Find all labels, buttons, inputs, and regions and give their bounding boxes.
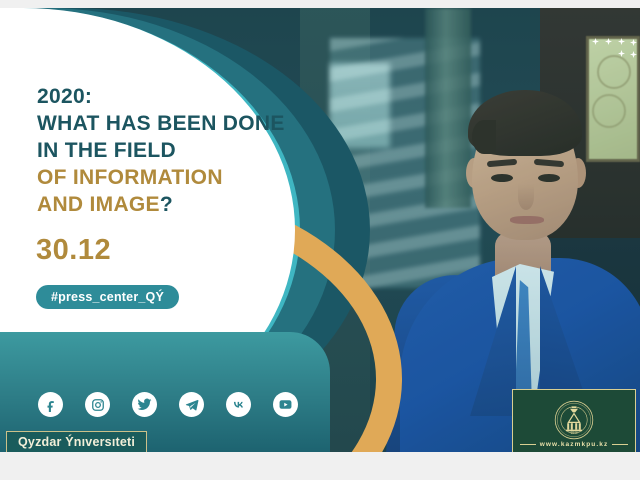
social-link-twitter[interactable] [132, 392, 157, 417]
headline-line-5-text: AND IMAGE [37, 193, 160, 216]
headline-line-1: 2020: [37, 84, 337, 111]
headline-line-4: OF INFORMATION [37, 165, 337, 192]
headline-line-3: IN THE FIELD [37, 138, 337, 165]
headline-question-mark: ? [160, 193, 173, 216]
social-link-vk[interactable] [226, 392, 251, 417]
twitter-icon [137, 397, 152, 412]
social-link-telegram[interactable] [179, 392, 204, 417]
sparkle-decoration [592, 38, 638, 64]
telegram-icon [185, 398, 199, 412]
university-name-label: Qyzdar Ýnıversıteti [18, 435, 135, 449]
hashtag-badge[interactable]: #press_center_QÝ [36, 285, 179, 309]
university-emblem: 1944 www.kazmkpu.kz [512, 389, 636, 452]
sparkle-icon [618, 38, 625, 45]
vk-icon [231, 397, 246, 412]
emblem-rule-right [612, 444, 628, 445]
university-name-plate: Qyzdar Ýnıversıteti [6, 431, 147, 452]
youtube-icon [278, 397, 293, 412]
headline-line-2: WHAT HAS BEEN DONE [37, 111, 337, 138]
instagram-icon [91, 398, 105, 412]
poster-canvas: 2020: WHAT HAS BEEN DONE IN THE FIELD OF… [0, 8, 640, 452]
headline-line-5: AND IMAGE? [37, 192, 337, 219]
social-link-facebook[interactable] [38, 392, 63, 417]
emblem-url-row: www.kazmkpu.kz [513, 441, 635, 448]
social-link-youtube[interactable] [273, 392, 298, 417]
social-links [38, 392, 298, 417]
sparkle-icon [592, 38, 599, 45]
page-title: 2020: WHAT HAS BEEN DONE IN THE FIELD OF… [37, 84, 337, 218]
emblem-url-label: www.kazmkpu.kz [540, 441, 609, 448]
hashtag-label: #press_center_QÝ [51, 290, 164, 304]
sparkle-icon [618, 50, 625, 57]
sparkle-icon [630, 51, 637, 58]
social-link-instagram[interactable] [85, 392, 110, 417]
svg-text:1944: 1944 [570, 431, 577, 435]
university-seal-icon: 1944 [554, 400, 594, 440]
sparkle-icon [630, 39, 637, 46]
event-date: 30.12 [36, 234, 111, 267]
emblem-rule-left [520, 444, 536, 445]
facebook-icon [44, 398, 58, 412]
sparkle-icon [605, 38, 612, 45]
